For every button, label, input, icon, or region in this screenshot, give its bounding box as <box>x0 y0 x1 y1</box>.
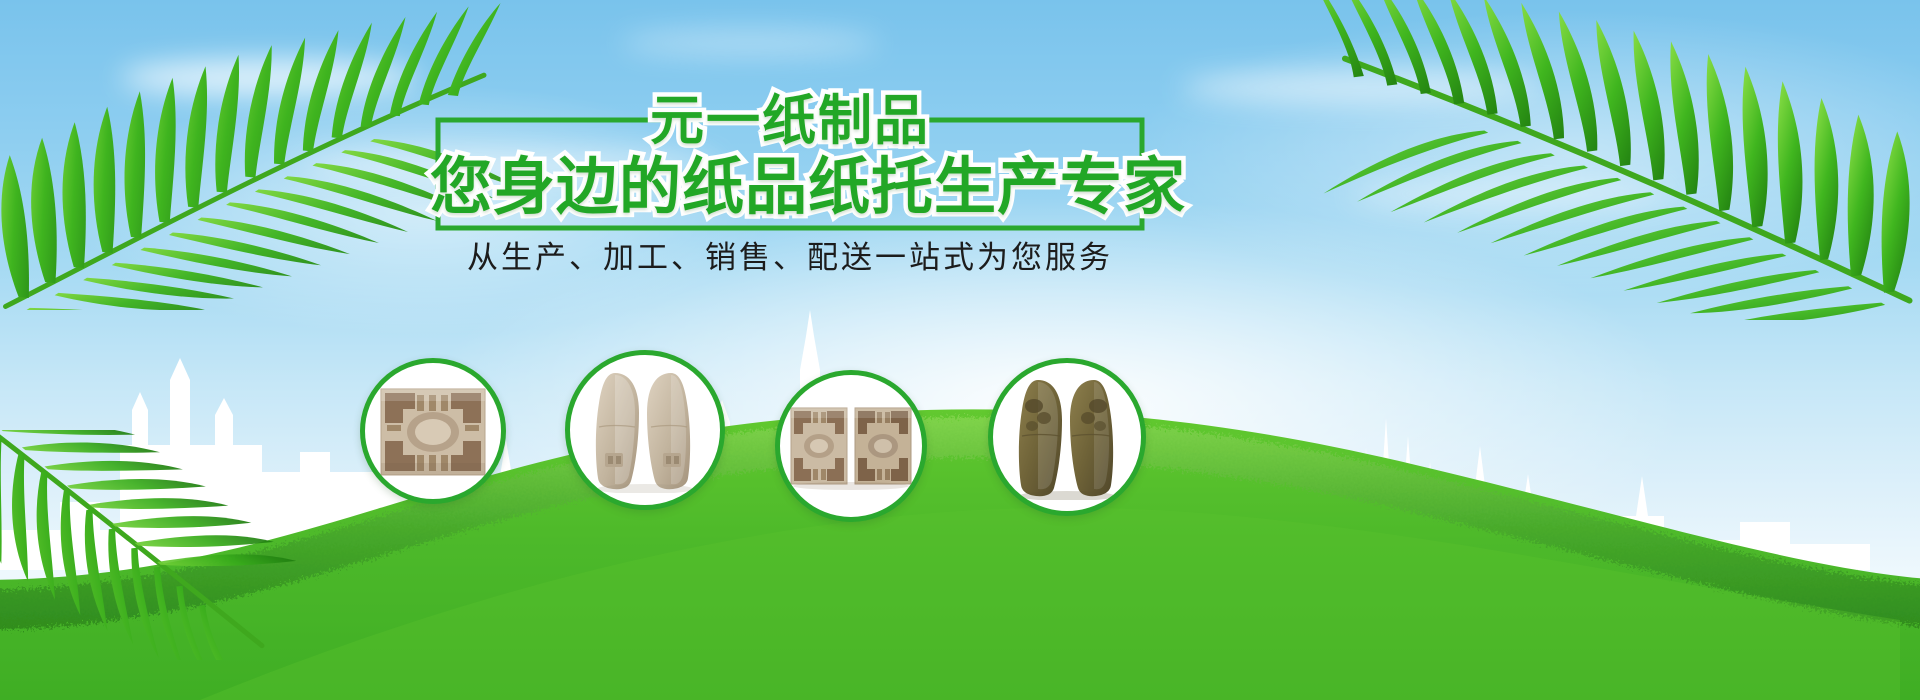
product-circle-4[interactable] <box>988 358 1146 516</box>
product-circle-2[interactable] <box>565 350 725 510</box>
palm-frond-icon <box>0 430 300 660</box>
headline-block: 元一纸制品 您身边的纸品纸托生产专家 从生产、加工、销售、配送一站式为您服务 <box>430 78 1150 293</box>
cloud-wisp <box>620 30 880 56</box>
molded-pulp-square-tray-image <box>377 375 489 487</box>
product-circle-1[interactable] <box>360 358 506 504</box>
banner-headline: 您身边的纸品纸托生产专家 <box>430 154 1150 220</box>
molded-pulp-shoe-tree-dark-image <box>1006 374 1128 500</box>
promotional-banner: 元一纸制品 您身边的纸品纸托生产专家 从生产、加工、销售、配送一站式为您服务 <box>0 0 1920 700</box>
product-circle-3[interactable] <box>775 370 927 522</box>
palm-frond-icon <box>1300 0 1920 320</box>
molded-pulp-double-tray-image <box>789 398 913 494</box>
banner-subtitle: 从生产、加工、销售、配送一站式为您服务 <box>430 238 1150 278</box>
molded-pulp-shoe-tree-light-image <box>585 367 705 493</box>
company-name: 元一纸制品 <box>430 92 1150 150</box>
